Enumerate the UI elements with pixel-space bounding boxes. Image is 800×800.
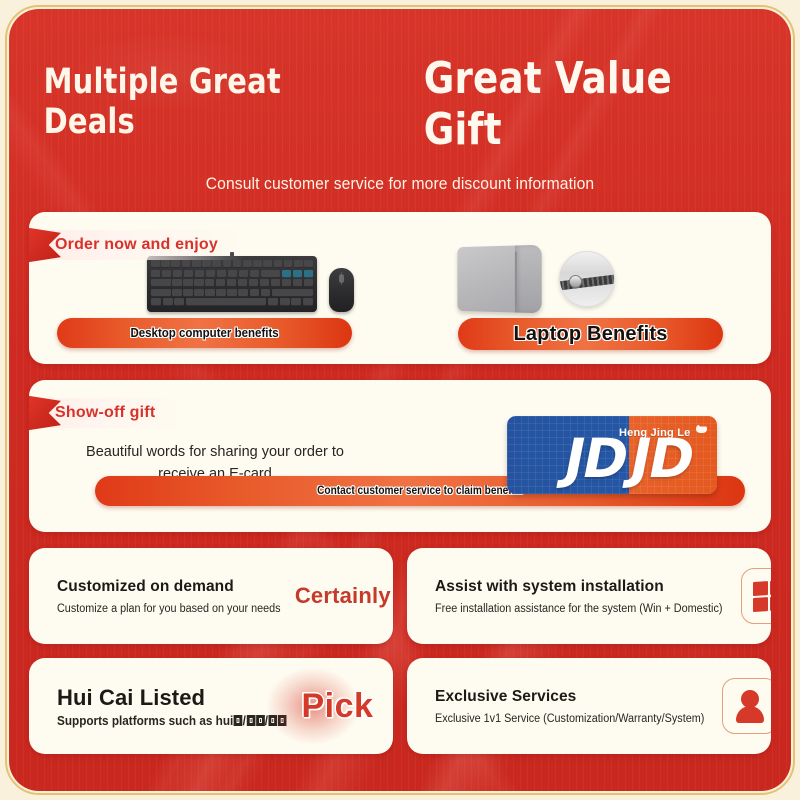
- card-products: Order now and enjoy: [29, 212, 771, 364]
- missing-glyph: [234, 715, 242, 726]
- feature-accent-pick: Pick: [302, 687, 380, 726]
- windows-icon: [741, 568, 771, 624]
- feature-subtitle: Supports platforms such as hui//: [57, 714, 287, 728]
- missing-glyph: [269, 715, 277, 726]
- laptop-benefits-button[interactable]: Laptop Benefits: [458, 318, 723, 350]
- missing-glyph: [256, 715, 264, 726]
- feature-card-system-install[interactable]: Assist with system installation Free ins…: [407, 548, 771, 644]
- laptop-section: Laptop Benefits: [400, 212, 771, 364]
- missing-glyph: [278, 715, 286, 726]
- card-gift: Show-off gift Beautiful words for sharin…: [29, 380, 771, 532]
- feature-subtitle: Customize a plan for you based on your n…: [57, 603, 281, 615]
- feature-title: Exclusive Services: [435, 688, 722, 706]
- feature-subtitle: Exclusive 1v1 Service (Customization/War…: [435, 713, 704, 725]
- keyboard-icon: [147, 256, 317, 312]
- red-stage: Multiple Great Deals Great Value Gift Co…: [9, 9, 791, 791]
- giftcard-logo-left: JD: [560, 432, 631, 486]
- ribbon-label: Order now and enjoy: [55, 236, 218, 254]
- mouse-icon: [329, 268, 354, 312]
- feature-subtitle-prefix: Supports platforms such as hui: [57, 714, 233, 728]
- feature-title: Customized on demand: [57, 578, 295, 596]
- headline-left: Multiple Great Deals: [44, 62, 380, 142]
- giftcard-image: Heng Jing Le JD JD: [507, 416, 717, 494]
- person-icon: [722, 678, 771, 734]
- feature-grid: Customized on demand Customize a plan fo…: [29, 548, 771, 754]
- laptop-benefits-label: Laptop Benefits: [513, 323, 667, 346]
- headline: Multiple Great Deals Great Value Gift: [29, 9, 771, 155]
- subtitle: Consult customer service for more discou…: [48, 175, 753, 194]
- desktop-benefits-button[interactable]: Desktop computer benefits: [57, 318, 352, 348]
- ribbon-order-now: Order now and enjoy: [29, 230, 244, 260]
- feature-subtitle: Free installation assistance for the sys…: [435, 603, 722, 615]
- keyboard-and-mouse-icon: [147, 256, 354, 312]
- contact-service-label: Contact customer service to claim benefi…: [317, 485, 523, 497]
- feature-card-customized[interactable]: Customized on demand Customize a plan fo…: [29, 548, 393, 644]
- feature-title: Hui Cai Listed: [57, 685, 302, 711]
- giftcard-logo-right: JD: [626, 432, 697, 486]
- desktop-benefits-label: Desktop computer benefits: [130, 326, 278, 340]
- feature-card-hui-cai[interactable]: Hui Cai Listed Supports platforms such a…: [29, 658, 393, 754]
- sleeve-body: [457, 245, 541, 314]
- laptop-sleeve-icon: [455, 246, 615, 312]
- ribbon-label: Show-off gift: [55, 404, 155, 422]
- feature-card-exclusive[interactable]: Exclusive Services Exclusive 1v1 Service…: [407, 658, 771, 754]
- zipper-detail-icon: [559, 251, 615, 307]
- feature-accent-certainly: Certainly: [295, 583, 393, 609]
- jd-gift-card: Heng Jing Le JD JD: [507, 416, 717, 494]
- ribbon-show-off-gift: Show-off gift: [29, 398, 181, 428]
- headline-right: Great Value Gift: [423, 53, 760, 155]
- content-area: Multiple Great Deals Great Value Gift Co…: [9, 9, 791, 754]
- feature-title: Assist with system installation: [435, 578, 741, 596]
- promo-banner: Multiple Great Deals Great Value Gift Co…: [0, 0, 800, 800]
- missing-glyph: [246, 715, 254, 726]
